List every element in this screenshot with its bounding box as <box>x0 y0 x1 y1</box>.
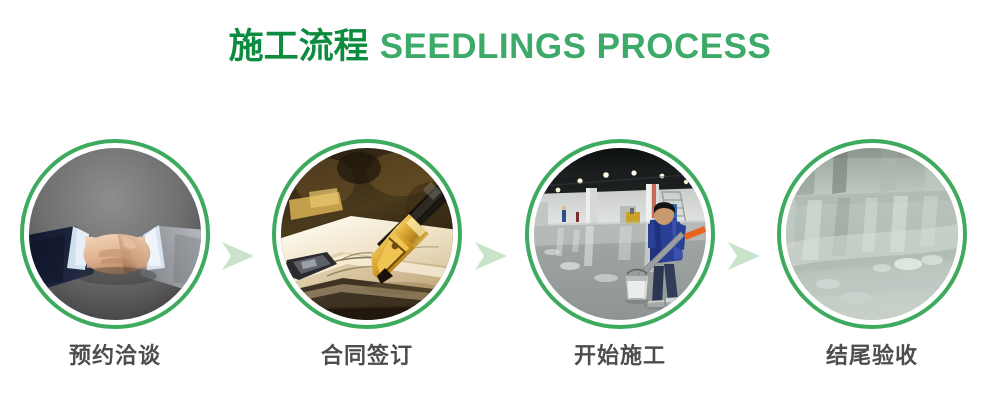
process-step-1[interactable]: 预约洽谈 <box>20 139 210 389</box>
step-2-circle[interactable] <box>272 139 462 329</box>
page-title: 施工流程SEEDLINGS PROCESS <box>0 29 1000 64</box>
step-3-ring <box>525 139 715 329</box>
process-step-4[interactable]: 结尾验收 <box>777 139 967 389</box>
step-4-label: 结尾验收 <box>777 343 967 369</box>
step-4-circle[interactable] <box>777 139 967 329</box>
process-step-3[interactable]: 开始施工 <box>525 139 715 389</box>
step-3-label: 开始施工 <box>525 343 715 369</box>
step-arrow-3-4 <box>726 239 762 273</box>
step-3-circle[interactable] <box>525 139 715 329</box>
page-title-english: SEEDLINGS PROCESS <box>380 27 772 66</box>
step-arrow-1-2 <box>220 239 256 273</box>
step-arrow-2-3 <box>473 239 509 273</box>
step-2-ring <box>272 139 462 329</box>
step-1-circle[interactable] <box>20 139 210 329</box>
step-4-ring <box>777 139 967 329</box>
process-steps: 预约洽谈 <box>0 139 1000 399</box>
step-2-label: 合同签订 <box>272 343 462 369</box>
step-1-label: 预约洽谈 <box>20 343 210 369</box>
step-1-ring <box>20 139 210 329</box>
page-title-chinese: 施工流程 <box>229 27 369 66</box>
process-step-2[interactable]: 合同签订 <box>272 139 462 389</box>
